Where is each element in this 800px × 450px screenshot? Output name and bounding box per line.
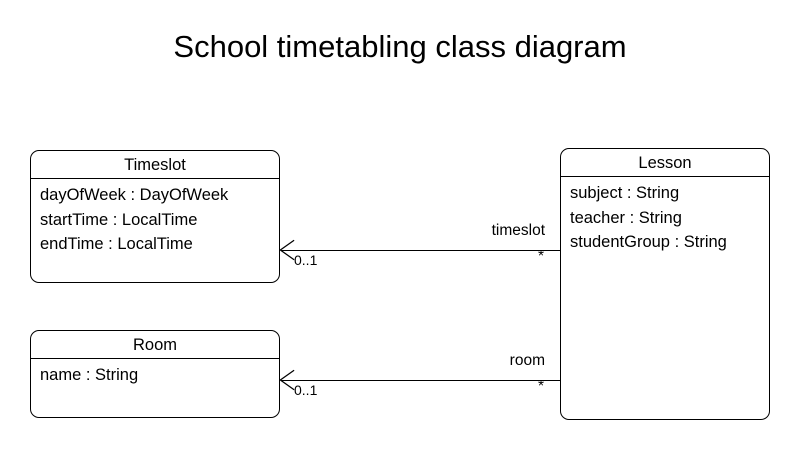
association-line-room <box>281 380 560 381</box>
association-line-timeslot <box>281 250 560 251</box>
class-name-room: Room <box>31 331 279 359</box>
association-label-room: room <box>395 352 545 370</box>
attribute-row: studentGroup : String <box>570 230 769 255</box>
class-attributes-lesson: subject : String teacher : String studen… <box>561 177 769 259</box>
class-attributes-timeslot: dayOfWeek : DayOfWeek startTime : LocalT… <box>31 179 279 261</box>
class-box-room[interactable]: Room name : String <box>30 330 280 418</box>
attribute-row: startTime : LocalTime <box>40 208 279 233</box>
attribute-row: endTime : LocalTime <box>40 232 279 257</box>
class-name-lesson: Lesson <box>561 149 769 177</box>
attribute-row: dayOfWeek : DayOfWeek <box>40 183 279 208</box>
open-arrow-icon <box>279 238 295 262</box>
class-box-lesson[interactable]: Lesson subject : String teacher : String… <box>560 148 770 420</box>
association-multiplicity-target-room: 0..1 <box>294 382 317 398</box>
association-multiplicity-target-timeslot: 0..1 <box>294 252 317 268</box>
attribute-row: name : String <box>40 363 279 388</box>
association-multiplicity-source-room: * <box>538 379 544 395</box>
class-attributes-room: name : String <box>31 359 279 392</box>
class-name-timeslot: Timeslot <box>31 151 279 179</box>
open-arrow-icon <box>279 368 295 392</box>
association-label-timeslot: timeslot <box>395 222 545 240</box>
page-title: School timetabling class diagram <box>0 28 800 66</box>
association-multiplicity-source-timeslot: * <box>538 249 544 265</box>
diagram-canvas: School timetabling class diagram Timeslo… <box>0 0 800 450</box>
attribute-row: subject : String <box>570 181 769 206</box>
attribute-row: teacher : String <box>570 206 769 231</box>
class-box-timeslot[interactable]: Timeslot dayOfWeek : DayOfWeek startTime… <box>30 150 280 283</box>
